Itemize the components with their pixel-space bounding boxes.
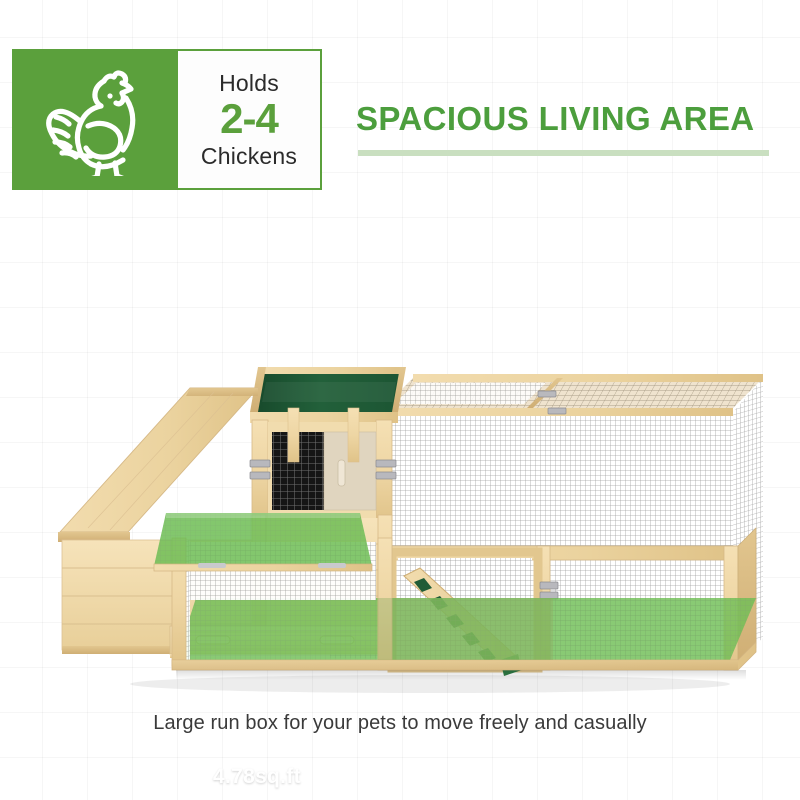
product-illustration: 4.78sq.ft 12.51sq.ft bbox=[0, 260, 800, 700]
capacity-badge: Holds 2-4 Chickens bbox=[12, 49, 322, 190]
badge-holds-label: Holds bbox=[219, 71, 279, 95]
badge-text-panel: Holds 2-4 Chickens bbox=[176, 49, 322, 190]
promo-page: Holds 2-4 Chickens SPACIOUS LIVING AREA bbox=[0, 0, 800, 800]
badge-icon-panel bbox=[12, 49, 176, 190]
page-title: SPACIOUS LIVING AREA bbox=[356, 100, 755, 138]
title-underline bbox=[358, 150, 769, 156]
badge-count-value: 2-4 bbox=[220, 96, 278, 142]
badge-animal-label: Chickens bbox=[201, 144, 297, 168]
coop-area-label: 4.78sq.ft bbox=[213, 765, 301, 789]
caption-text: Large run box for your pets to move free… bbox=[0, 712, 800, 735]
chicken-icon bbox=[42, 64, 146, 176]
